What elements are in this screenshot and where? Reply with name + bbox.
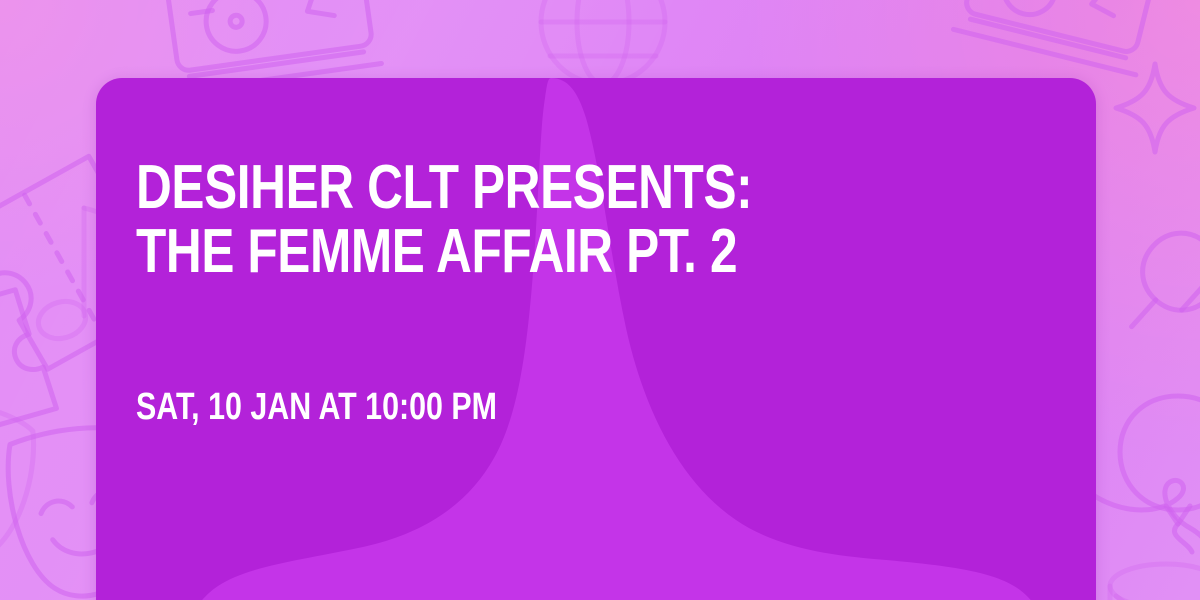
card-content: DesiHER CLT Presents: The Femme Affair P…	[136, 78, 1056, 600]
event-datetime: Sat, 10 Jan at 10:00 PM	[136, 388, 497, 426]
event-card[interactable]: DesiHER CLT Presents: The Femme Affair P…	[96, 78, 1096, 600]
event-title: DesiHER CLT Presents: The Femme Affair P…	[136, 156, 776, 285]
event-banner: DesiHER CLT Presents: The Femme Affair P…	[0, 0, 1200, 600]
